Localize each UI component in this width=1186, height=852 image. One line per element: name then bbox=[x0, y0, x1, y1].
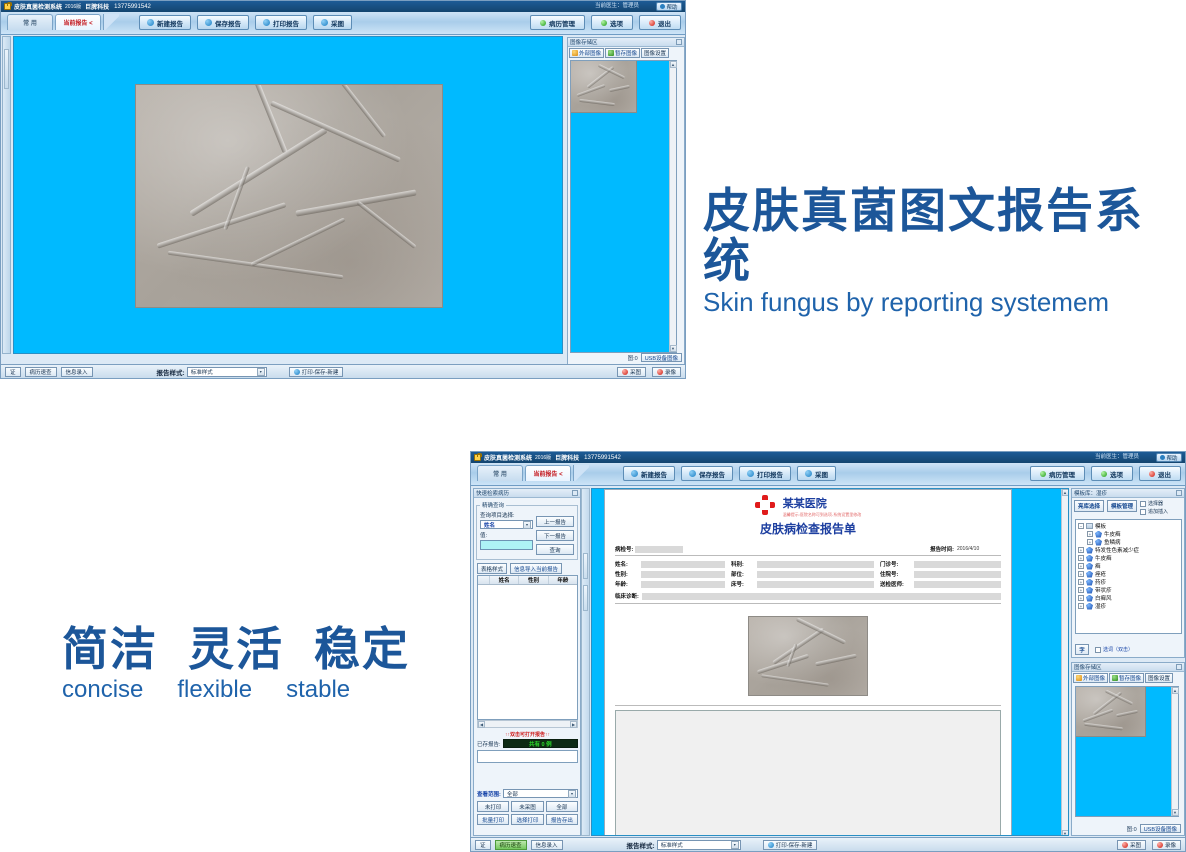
case-no-label: 病检号: bbox=[615, 545, 633, 553]
exact-query-group: 精确查询 查询项目选择: 姓名 ▾ 值: 上一报告 下一报告 bbox=[476, 501, 578, 560]
tree-node-item[interactable]: + 药疹 bbox=[1078, 578, 1179, 586]
statusbar-cert-label: 证 bbox=[10, 368, 16, 376]
report-scrollbar[interactable]: ▲ ▼ bbox=[1061, 489, 1068, 836]
expand-icon[interactable]: + bbox=[1078, 563, 1084, 569]
print-report-button[interactable]: 打印报告 bbox=[255, 15, 307, 30]
tab-current-report[interactable]: 当前报告 < bbox=[55, 14, 101, 30]
print-save-new-label: 打印-保存-新建 bbox=[776, 841, 813, 849]
saved-report-count-text: 共有 0 例 bbox=[529, 740, 552, 748]
support-phone: 13775991542 bbox=[584, 455, 621, 461]
expand-icon[interactable]: + bbox=[1078, 595, 1084, 601]
field-select[interactable]: 姓名 ▾ bbox=[480, 520, 533, 529]
quick-search-panel-header: 快速检索病历 bbox=[474, 489, 580, 498]
quick-case-search-label: 病历速查 bbox=[500, 841, 522, 849]
tab-common-label: 常 用 bbox=[493, 469, 507, 478]
tree-node-child[interactable]: + 鱼鳞病 bbox=[1078, 538, 1179, 546]
status-led-red-icon bbox=[1157, 842, 1163, 848]
promo-word-concise-en: concise bbox=[62, 676, 143, 704]
temp-image-button[interactable]: 暂存图像 bbox=[605, 48, 640, 58]
template-tree[interactable]: − 模板 + 牛皮癣 + 鱼鳞病 + 特发性色素减少症 + bbox=[1075, 519, 1182, 634]
new-report-icon bbox=[147, 19, 154, 26]
external-image-icon bbox=[1076, 675, 1082, 681]
help-icon bbox=[1160, 455, 1165, 460]
ribbon: 当前医生：管理员 帮助 常 用 当前报告 < 新建报告 保存报告 bbox=[471, 463, 1185, 486]
template-item-icon bbox=[1086, 603, 1093, 610]
tree-node-item[interactable]: + 牛皮癣 bbox=[1078, 554, 1179, 562]
print-save-new-icon bbox=[768, 842, 774, 848]
report-style-value: 标准样式 bbox=[661, 841, 683, 849]
tab-slant-decoration bbox=[103, 14, 119, 30]
batch-print-label: 批量打印 bbox=[482, 816, 504, 824]
inpatient-no-value[interactable] bbox=[914, 571, 1001, 578]
case-no-value[interactable] bbox=[635, 546, 683, 553]
filter-unprinted-label: 未打印 bbox=[485, 803, 502, 811]
gender-value[interactable] bbox=[641, 571, 725, 578]
statusbar-button-cert[interactable]: 证 bbox=[5, 367, 21, 377]
report-style-label: 报告样式: bbox=[157, 367, 185, 377]
usb-device-image-button[interactable]: USB设备图像 bbox=[641, 353, 682, 362]
statusbar: 证 病历速查 信息录入 报告样式: 标准样式 ▾ 打印-保存-新建 采图 bbox=[471, 837, 1185, 851]
value-input[interactable] bbox=[480, 540, 533, 550]
age-value[interactable] bbox=[641, 581, 725, 588]
referring-doctor-value[interactable] bbox=[914, 581, 1001, 588]
info-entry-button[interactable]: 信息录入 bbox=[61, 367, 93, 377]
case-result-table[interactable]: 姓名 性别 年龄 bbox=[477, 575, 578, 720]
image-storage-panel: 图像存储区 外部图像 暂存图像 图像设置 bbox=[1071, 662, 1185, 836]
brand-title-cn: 皮肤真菌图文报告系统 bbox=[703, 186, 1173, 286]
help-label: 帮助 bbox=[666, 3, 677, 11]
print-save-new-button[interactable]: 打印-保存-新建 bbox=[763, 840, 818, 850]
options-button[interactable]: 选项 bbox=[591, 15, 633, 30]
company-name: 巨脾科技 bbox=[555, 453, 579, 462]
splitter-handle[interactable] bbox=[583, 585, 588, 611]
collapse-icon[interactable]: − bbox=[1078, 523, 1084, 529]
chevron-down-icon[interactable]: ▾ bbox=[568, 790, 576, 798]
print-report-icon bbox=[263, 19, 270, 26]
record-button-label: 录像 bbox=[1165, 841, 1176, 849]
tree-node-label: 白癣风 bbox=[1095, 594, 1112, 602]
import-info-button[interactable]: 信息导入当前报告 bbox=[510, 563, 562, 574]
image-settings-button[interactable]: 图像设置 bbox=[1145, 673, 1173, 683]
quick-case-search-button[interactable]: 病历速查 bbox=[495, 840, 527, 850]
temp-image-button[interactable]: 暂存图像 bbox=[1109, 673, 1144, 683]
saved-report-label: 已存报告: bbox=[477, 740, 501, 748]
expand-icon[interactable]: + bbox=[1078, 571, 1084, 577]
hospital-cross-icon bbox=[755, 495, 775, 515]
quick-case-search-button[interactable]: 病历速查 bbox=[25, 367, 57, 377]
saved-report-input[interactable] bbox=[477, 750, 578, 763]
template-item-icon bbox=[1086, 547, 1093, 554]
capture-image-icon bbox=[805, 470, 812, 477]
save-report-label: 保存报告 bbox=[215, 18, 241, 28]
template-item-icon bbox=[1095, 531, 1102, 538]
panel-pin-icon[interactable] bbox=[572, 490, 578, 496]
tab-current-report-label: 当前报告 < bbox=[63, 18, 92, 27]
report-style-select[interactable]: 标准样式 ▾ bbox=[657, 840, 741, 850]
diagnosis-label: 临床诊断: bbox=[615, 592, 639, 600]
hospital-name: 某某医院 bbox=[783, 495, 861, 511]
capture-image-button[interactable]: 采图 bbox=[313, 15, 352, 30]
tree-node-item[interactable]: + 湿疹 bbox=[1078, 602, 1179, 610]
promo-word-concise-cn: 简洁 bbox=[62, 624, 158, 674]
table-style-button[interactable]: 表格样式 bbox=[477, 563, 507, 574]
field-select-label: 查询项目选择: bbox=[480, 511, 533, 519]
panel-pin-icon[interactable] bbox=[1176, 490, 1182, 496]
library-select-button[interactable]: 亮库选择 bbox=[1074, 500, 1104, 512]
report-style-label: 报告样式: bbox=[627, 840, 655, 850]
search-button[interactable]: 查询 bbox=[536, 544, 574, 555]
quick-case-search-label: 病历速查 bbox=[30, 368, 52, 376]
append-checkbox-row[interactable]: 追加插入 bbox=[1140, 508, 1168, 515]
value-label: 值: bbox=[480, 531, 533, 539]
template-library-header: 模板库：湿疹 bbox=[1072, 489, 1184, 498]
app-name: 皮肤真菌检测系统 bbox=[484, 453, 532, 462]
report-time-label: 报告时间: bbox=[930, 545, 954, 553]
font-button[interactable]: 字 bbox=[1075, 644, 1089, 655]
status-led-green-icon bbox=[1040, 471, 1046, 477]
thumbnail-scrollbar[interactable]: ▲ ▼ bbox=[1171, 687, 1178, 816]
exit-button[interactable]: 退出 bbox=[1139, 466, 1181, 481]
ribbon: 当前医生：管理员 帮助 常 用 当前报告 < 新建报告 保存报告 bbox=[1, 12, 685, 35]
scroll-up-icon[interactable]: ▲ bbox=[670, 61, 677, 68]
tree-node-item[interactable]: + 痤疮 bbox=[1078, 570, 1179, 578]
image-storage-title: 图像存储区 bbox=[1074, 663, 1102, 671]
tree-node-item[interactable]: + 白癣风 bbox=[1078, 594, 1179, 602]
ribbon-right-group: 病历管理 选项 退出 bbox=[1030, 466, 1181, 481]
capture-button[interactable]: 采图 bbox=[1117, 840, 1146, 850]
capture-image-icon bbox=[321, 19, 328, 26]
report-style-value: 标准样式 bbox=[191, 368, 213, 376]
site-label: 部位: bbox=[731, 570, 757, 578]
gender-label: 性别: bbox=[615, 570, 641, 578]
capture-image-button[interactable]: 采图 bbox=[797, 466, 836, 481]
print-report-icon bbox=[747, 470, 754, 477]
scope-select[interactable]: 全部 ▾ bbox=[503, 789, 578, 798]
save-report-button[interactable]: 保存报告 bbox=[681, 466, 733, 481]
table-style-label: 表格样式 bbox=[481, 565, 503, 573]
panel-splitter-left[interactable] bbox=[581, 488, 590, 836]
scope-label: 查看范围: bbox=[477, 790, 501, 798]
quick-search-panel: 快速检索病历 精确查询 查询项目选择: 姓名 ▾ 值: 上一报告 bbox=[473, 488, 581, 836]
field-select-value: 姓名 bbox=[484, 521, 495, 529]
external-image-button[interactable]: 外部图像 bbox=[569, 48, 604, 58]
table-body bbox=[478, 585, 577, 728]
brand-title-en: Skin fungus by reporting systemem bbox=[703, 288, 1173, 316]
case-management-button[interactable]: 病历管理 bbox=[530, 15, 585, 30]
status-led-green-icon bbox=[1101, 471, 1107, 477]
chevron-down-icon[interactable]: ▾ bbox=[731, 841, 739, 849]
table-hscrollbar[interactable]: ◀ ▶ bbox=[477, 720, 578, 728]
name-value[interactable] bbox=[641, 561, 725, 568]
capture-button-label: 采图 bbox=[1130, 841, 1141, 849]
expand-icon[interactable]: + bbox=[1078, 555, 1084, 561]
tree-node-label: 带状疹 bbox=[1095, 586, 1112, 594]
double-click-hint: ↑↑双击可打开报告↑↑ bbox=[477, 731, 578, 738]
site-value[interactable] bbox=[757, 571, 874, 578]
promo-block: 简洁 灵活 稳定 concise flexible stable bbox=[62, 624, 422, 704]
export-report-button[interactable]: 报告存出 bbox=[546, 814, 578, 825]
record-button[interactable]: 录像 bbox=[1152, 840, 1181, 850]
print-save-new-button[interactable]: 打印-保存-新建 bbox=[289, 367, 344, 377]
temp-image-label: 暂存图像 bbox=[615, 49, 637, 57]
exit-button[interactable]: 退出 bbox=[639, 15, 681, 30]
bed-no-value[interactable] bbox=[757, 581, 874, 588]
template-manage-button[interactable]: 模板管理 bbox=[1107, 500, 1137, 512]
image-thumbnail[interactable] bbox=[571, 61, 637, 113]
status-led-green-icon bbox=[601, 20, 607, 26]
chevron-down-icon[interactable]: ▾ bbox=[523, 521, 531, 529]
report-microscope-image[interactable] bbox=[748, 616, 868, 696]
current-doctor-label: 当前医生：管理员 bbox=[595, 1, 639, 9]
save-report-label: 保存报告 bbox=[699, 469, 725, 479]
report-style-select[interactable]: 标准样式 ▾ bbox=[187, 367, 267, 377]
import-info-label: 信息导入当前报告 bbox=[514, 565, 558, 573]
template-item-icon bbox=[1086, 579, 1093, 586]
thumbnail-scrollbar[interactable]: ▲ ▼ bbox=[669, 61, 676, 352]
scroll-up-icon[interactable]: ▲ bbox=[1172, 687, 1179, 694]
template-item-icon bbox=[1086, 595, 1093, 602]
case-management-label: 病历管理 bbox=[549, 18, 575, 28]
splitter-handle[interactable] bbox=[583, 553, 588, 579]
left-strip-handle[interactable] bbox=[4, 49, 9, 89]
prev-report-button[interactable]: 上一报告 bbox=[536, 516, 574, 527]
tree-node-label: 牛皮癣 bbox=[1104, 530, 1121, 538]
options-label: 选项 bbox=[1110, 469, 1123, 479]
promo-word-stable-en: stable bbox=[286, 676, 350, 704]
new-report-button[interactable]: 新建报告 bbox=[623, 466, 675, 481]
tab-current-report[interactable]: 当前报告 < bbox=[525, 465, 571, 481]
selector-checkbox[interactable] bbox=[1140, 501, 1146, 507]
image-thumbnail[interactable] bbox=[1076, 687, 1146, 737]
app-name: 皮肤真菌检测系统 bbox=[14, 2, 62, 11]
promo-word-flexible-en: flexible bbox=[177, 676, 252, 704]
quick-search-title: 快速检索病历 bbox=[476, 489, 509, 497]
findings-textarea[interactable] bbox=[615, 710, 1001, 836]
filter-unprinted-button[interactable]: 未打印 bbox=[477, 801, 509, 812]
department-value[interactable] bbox=[757, 561, 874, 568]
export-report-label: 报告存出 bbox=[551, 816, 573, 824]
brand-title-block: 皮肤真菌图文报告系统 Skin fungus by reporting syst… bbox=[703, 186, 1173, 316]
external-image-label: 外部图像 bbox=[579, 49, 601, 57]
image-thumbnail-list[interactable]: ▲ ▼ bbox=[570, 60, 677, 353]
append-checkbox[interactable] bbox=[1140, 509, 1146, 515]
next-report-label: 下一报告 bbox=[544, 532, 566, 540]
current-doctor-label: 当前医生：管理员 bbox=[1095, 452, 1139, 460]
table-header-name: 姓名 bbox=[490, 576, 519, 584]
ribbon-tabs: 常 用 当前报告 < bbox=[477, 465, 589, 481]
table-header-gender: 性别 bbox=[519, 576, 548, 584]
department-label: 科别: bbox=[731, 560, 757, 568]
options-label: 选项 bbox=[610, 18, 623, 28]
image-storage-panel: 图像存储区 外部图像 暂存图像 图像设置 bbox=[567, 37, 685, 365]
scroll-down-icon[interactable]: ▼ bbox=[1062, 830, 1069, 836]
template-item-icon bbox=[1086, 555, 1093, 562]
support-phone: 13775991542 bbox=[114, 4, 151, 10]
font-button-label: 字 bbox=[1079, 646, 1085, 654]
select-print-button[interactable]: 选择打印 bbox=[511, 814, 543, 825]
tree-node-item[interactable]: + 带状疹 bbox=[1078, 586, 1179, 594]
word-pick-checkbox-row[interactable]: 选词（双击） bbox=[1095, 646, 1133, 653]
report-workspace: 某某医院 温馨提示:医院名称可到选项-系统设置里修改 皮肤病检查报告单 病检号:… bbox=[591, 488, 1069, 836]
live-view-canvas[interactable] bbox=[13, 36, 563, 354]
external-image-button[interactable]: 外部图像 bbox=[1073, 673, 1108, 683]
report-paper[interactable]: 某某医院 温馨提示:医院名称可到选项-系统设置里修改 皮肤病检查报告单 病检号:… bbox=[604, 489, 1012, 836]
info-entry-button[interactable]: 信息录入 bbox=[531, 840, 563, 850]
expand-icon[interactable]: + bbox=[1078, 547, 1084, 553]
folder-icon bbox=[1086, 523, 1093, 529]
print-report-label: 打印报告 bbox=[757, 469, 783, 479]
image-thumbnail-list[interactable]: ▲ ▼ bbox=[1075, 686, 1179, 817]
chevron-down-icon[interactable]: ▾ bbox=[257, 368, 265, 376]
word-pick-checkbox-label: 选词（双击） bbox=[1103, 646, 1133, 653]
image-settings-button[interactable]: 图像设置 bbox=[641, 48, 669, 58]
filter-all-label: 全部 bbox=[556, 803, 567, 811]
help-button[interactable]: 帮助 bbox=[656, 2, 682, 11]
scroll-down-icon[interactable]: ▼ bbox=[670, 345, 677, 352]
expand-icon[interactable]: + bbox=[1087, 539, 1093, 545]
expand-icon[interactable]: + bbox=[1078, 579, 1084, 585]
help-button[interactable]: 帮助 bbox=[1156, 453, 1182, 462]
ribbon-button-group: 新建报告 保存报告 打印报告 采图 bbox=[139, 15, 352, 30]
options-button[interactable]: 选项 bbox=[1091, 466, 1133, 481]
print-save-new-label: 打印-保存-新建 bbox=[302, 368, 339, 376]
promo-word-flexible-cn: 灵活 bbox=[188, 624, 284, 674]
usb-device-image-label: USB设备图像 bbox=[645, 354, 678, 362]
panel-pin-icon[interactable] bbox=[1176, 664, 1182, 670]
info-entry-label: 信息录入 bbox=[66, 368, 88, 376]
filter-all-button[interactable]: 全部 bbox=[546, 801, 578, 812]
image-count-label: 图:0 bbox=[628, 354, 638, 362]
help-icon bbox=[660, 4, 665, 9]
report-title: 皮肤病检查报告单 bbox=[605, 520, 1011, 537]
save-report-icon bbox=[689, 470, 696, 477]
temp-image-label: 暂存图像 bbox=[1119, 674, 1141, 682]
ribbon-tabs: 常 用 当前报告 < bbox=[7, 14, 119, 30]
record-button[interactable]: 录像 bbox=[652, 367, 681, 377]
scroll-left-icon[interactable]: ◀ bbox=[478, 721, 485, 728]
exit-label: 退出 bbox=[1158, 469, 1171, 479]
scroll-up-icon[interactable]: ▲ bbox=[1062, 489, 1069, 496]
titlebar: 皮肤真菌检测系统 2016版 巨脾科技 13775991542 bbox=[471, 452, 1185, 463]
tree-node-root[interactable]: − 模板 bbox=[1078, 522, 1179, 530]
prev-report-label: 上一报告 bbox=[544, 518, 566, 526]
template-item-icon bbox=[1086, 571, 1093, 578]
tab-current-report-label: 当前报告 < bbox=[533, 469, 562, 478]
promo-word-stable-cn: 稳定 bbox=[314, 624, 410, 674]
capture-button[interactable]: 采图 bbox=[617, 367, 646, 377]
left-vertical-strip bbox=[2, 36, 11, 354]
new-report-button[interactable]: 新建报告 bbox=[139, 15, 191, 30]
tree-node-item[interactable]: + 癣 bbox=[1078, 562, 1179, 570]
statusbar-cert-label: 证 bbox=[480, 841, 486, 849]
template-item-icon bbox=[1086, 563, 1093, 570]
ribbon-button-group: 新建报告 保存报告 打印报告 采图 bbox=[623, 466, 836, 481]
diagnosis-value[interactable] bbox=[642, 593, 1001, 600]
outpatient-no-value[interactable] bbox=[914, 561, 1001, 568]
template-item-icon bbox=[1086, 587, 1093, 594]
tab-common-label: 常 用 bbox=[23, 18, 37, 27]
batch-print-button[interactable]: 批量打印 bbox=[477, 814, 509, 825]
tree-node-label: 痤疮 bbox=[1095, 570, 1106, 578]
panel-pin-icon[interactable] bbox=[676, 39, 682, 45]
image-count-label: 图:0 bbox=[1127, 825, 1137, 833]
save-report-icon bbox=[205, 19, 212, 26]
ribbon-right-group: 病历管理 选项 退出 bbox=[530, 15, 681, 30]
temp-image-icon bbox=[608, 50, 614, 56]
inpatient-no-label: 住院号: bbox=[880, 570, 914, 578]
outpatient-no-label: 门诊号: bbox=[880, 560, 914, 568]
save-report-button[interactable]: 保存报告 bbox=[197, 15, 249, 30]
template-library-panel: 模板库：湿疹 亮库选择 模板管理 选择器 追加插入 bbox=[1071, 488, 1185, 658]
print-report-label: 打印报告 bbox=[273, 18, 299, 28]
exit-label: 退出 bbox=[658, 18, 671, 28]
selector-checkbox-label: 选择器 bbox=[1148, 500, 1163, 507]
image-storage-title: 图像存储区 bbox=[570, 38, 598, 46]
status-led-red-icon bbox=[657, 369, 663, 375]
tab-common[interactable]: 常 用 bbox=[477, 465, 523, 481]
scope-value: 全部 bbox=[507, 790, 518, 798]
print-report-button[interactable]: 打印报告 bbox=[739, 466, 791, 481]
statusbar-button-cert[interactable]: 证 bbox=[475, 840, 491, 850]
expand-icon[interactable]: + bbox=[1078, 603, 1084, 609]
app-version: 2016版 bbox=[65, 3, 81, 10]
microscope-image bbox=[135, 84, 443, 308]
image-settings-label: 图像设置 bbox=[1148, 674, 1170, 682]
temp-image-icon bbox=[1112, 675, 1118, 681]
image-storage-panel-header: 图像存储区 bbox=[1072, 663, 1184, 672]
next-report-button[interactable]: 下一报告 bbox=[536, 530, 574, 541]
tab-common[interactable]: 常 用 bbox=[7, 14, 53, 30]
expand-icon[interactable]: + bbox=[1078, 587, 1084, 593]
help-label: 帮助 bbox=[1166, 454, 1177, 462]
select-print-label: 选择打印 bbox=[516, 816, 538, 824]
tree-node-item[interactable]: + 特发性色素减少症 bbox=[1078, 546, 1179, 554]
external-image-label: 外部图像 bbox=[1083, 674, 1105, 682]
capture-image-label: 采图 bbox=[331, 18, 344, 28]
scroll-down-icon[interactable]: ▼ bbox=[1172, 809, 1179, 816]
new-report-label: 新建报告 bbox=[641, 469, 667, 479]
case-management-label: 病历管理 bbox=[1049, 469, 1075, 479]
record-button-label: 录像 bbox=[665, 368, 676, 376]
append-checkbox-label: 追加插入 bbox=[1148, 508, 1168, 515]
tree-node-label: 癣 bbox=[1095, 562, 1101, 570]
age-label: 年龄: bbox=[615, 580, 641, 588]
status-led-red-icon bbox=[649, 20, 655, 26]
print-save-new-icon bbox=[294, 369, 300, 375]
tree-node-root-label: 模板 bbox=[1095, 522, 1106, 530]
expand-icon[interactable]: + bbox=[1087, 531, 1093, 537]
scroll-right-icon[interactable]: ▶ bbox=[570, 721, 577, 728]
tree-node-label: 鱼鳞病 bbox=[1104, 538, 1121, 546]
selector-checkbox-row[interactable]: 选择器 bbox=[1140, 500, 1168, 507]
case-management-button[interactable]: 病历管理 bbox=[1030, 466, 1085, 481]
tree-node-child[interactable]: + 牛皮癣 bbox=[1078, 530, 1179, 538]
usb-device-image-button[interactable]: USB设备图像 bbox=[1140, 824, 1181, 833]
status-led-green-icon bbox=[540, 20, 546, 26]
info-entry-label: 信息录入 bbox=[536, 841, 558, 849]
library-select-label: 亮库选择 bbox=[1078, 502, 1100, 510]
lock-icon bbox=[4, 3, 11, 10]
tree-node-label: 药疹 bbox=[1095, 578, 1106, 586]
bed-no-label: 床号: bbox=[731, 580, 757, 588]
word-pick-checkbox[interactable] bbox=[1095, 647, 1101, 653]
capture-image-label: 采图 bbox=[815, 469, 828, 479]
template-manage-label: 模板管理 bbox=[1111, 502, 1133, 510]
search-button-label: 查询 bbox=[549, 546, 560, 554]
tree-node-label: 湿疹 bbox=[1095, 602, 1106, 610]
tree-node-label: 牛皮癣 bbox=[1095, 554, 1112, 562]
filter-uncaptured-button[interactable]: 未采图 bbox=[511, 801, 543, 812]
